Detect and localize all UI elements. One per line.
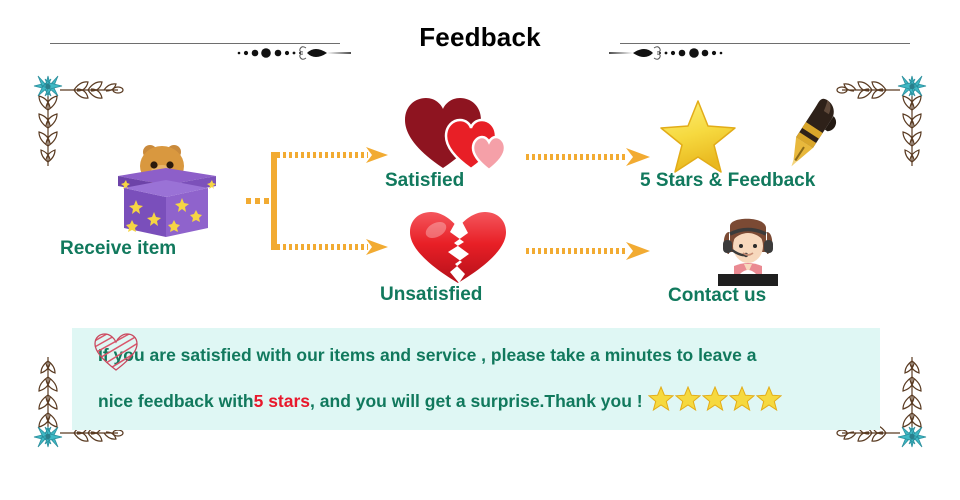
hearts-icon [405,98,510,170]
page-title: Feedback [0,22,960,53]
floral-corner-ornament-icon [834,48,942,173]
message-highlight-5-stars: 5 stars [254,391,310,412]
support-agent-icon [710,218,786,288]
feedback-banner: Feedback [0,0,960,500]
star-icon [675,386,701,412]
header: Feedback [0,22,960,68]
message-line-2: nice feedback with 5 stars , and you wil… [98,386,906,412]
star-icon [660,100,736,174]
gift-box-icon [112,138,222,238]
sketch-heart-icon [94,333,138,371]
star-icon [729,386,755,412]
five-stars-feedback-label: 5 Stars & Feedback [640,170,870,192]
floral-corner-ornament-icon [18,48,126,173]
star-icon [648,386,674,412]
star-icon [702,386,728,412]
message-line-1-text: If you are satisfied with our items and … [98,345,756,366]
contact-us-label: Contact us [668,285,828,307]
satisfied-label: Satisfied [385,170,535,192]
dotted-arrow-right-icon [524,240,652,262]
branching-dotted-arrow-icon [246,146,396,256]
message-line-2-prefix: nice feedback with [98,391,254,412]
feedback-message-box: If you are satisfied with our items and … [72,328,880,430]
broken-heart-icon [408,212,508,284]
message-line-1: If you are satisfied with our items and … [98,344,906,366]
fountain-pen-icon [776,96,850,174]
unsatisfied-label: Unsatisfied [380,284,540,306]
star-icon [756,386,782,412]
message-line-2-suffix: , and you will get a surprise.Thank you … [310,391,643,412]
dotted-arrow-right-icon [524,146,652,168]
